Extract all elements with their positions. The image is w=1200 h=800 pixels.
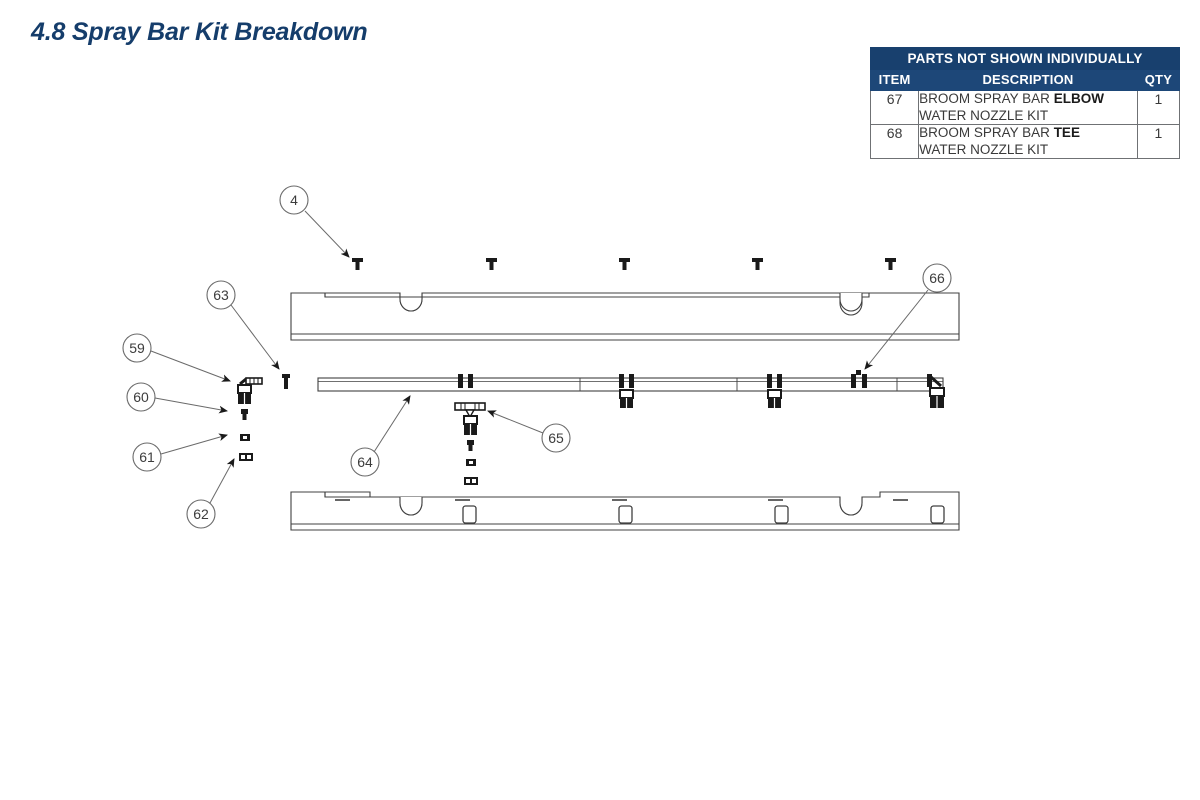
callout-4[interactable]: 4 [280,186,349,257]
callout-label: 59 [129,340,145,356]
elbow-nozzle-part [238,378,262,404]
diagram-geometry [238,258,959,530]
bolt-icon [352,258,363,270]
callout-62[interactable]: 62 [187,459,234,528]
page-root: 4.8 Spray Bar Kit Breakdown PARTS NOT SH… [0,0,1200,800]
callout-60[interactable]: 60 [127,383,227,411]
plug-part [241,409,248,420]
top-bolt-group [352,258,896,270]
callout-label: 4 [290,192,298,208]
callout-label: 66 [929,270,945,286]
callout-label: 64 [357,454,373,470]
plug-part [467,440,474,451]
washer-part [466,459,476,466]
callout-65[interactable]: 65 [488,411,570,452]
callout-label: 61 [139,449,155,465]
callout-label: 63 [213,287,229,303]
bolt-icon [619,258,630,270]
bolt-icon [752,258,763,270]
callout-64[interactable]: 64 [351,396,410,476]
nut-part [464,477,478,485]
callout-group: 4 63 59 60 61 [123,186,951,528]
top-mounting-rail [291,293,959,340]
callout-label: 65 [548,430,564,446]
callout-label: 62 [193,506,209,522]
tee-nozzle-part [455,403,485,435]
washer-part [240,434,250,441]
bolt-icon [885,258,896,270]
callout-63[interactable]: 63 [207,281,279,369]
callout-label: 60 [133,389,149,405]
long-bolt-icon [282,374,290,389]
exploded-parts-diagram: 4 63 59 60 61 [0,0,1200,800]
bottom-mounting-rail [291,492,959,530]
nut-part [239,453,253,461]
callout-59[interactable]: 59 [123,334,230,381]
callout-61[interactable]: 61 [133,435,227,471]
bolt-icon [486,258,497,270]
